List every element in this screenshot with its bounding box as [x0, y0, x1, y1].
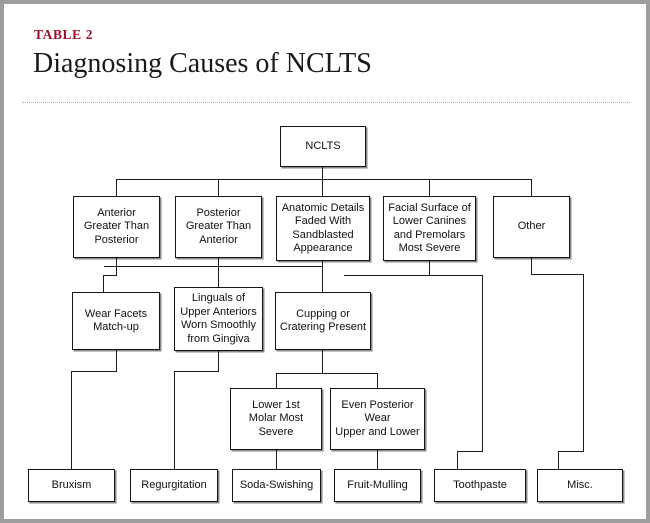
flow-node-wear-facets[interactable]: Wear Facets Match-up	[72, 292, 160, 350]
flow-node-label: Facial Surface of Lower Canines and Prem…	[388, 202, 471, 256]
connector-bus-to-posterior	[218, 179, 219, 196]
connector-facial-down	[429, 261, 430, 276]
flowchart: NCLTS Anterior Greater Than Posterior Po…	[4, 4, 646, 519]
flow-node-label: NCLTS	[305, 140, 340, 154]
flow-node-label: Soda-Swishing	[240, 479, 313, 493]
connector-posterior-across	[104, 266, 219, 267]
connector-toothpaste-stem	[457, 451, 458, 469]
flow-node-label: Misc.	[567, 479, 593, 493]
flow-node-label: Wear Facets Match-up	[85, 308, 147, 335]
flow-node-anterior-greater[interactable]: Anterior Greater Than Posterior	[73, 196, 160, 258]
connector-linguals-down	[218, 351, 219, 372]
flow-node-posterior-greater[interactable]: Posterior Greater Than Anterior	[175, 196, 262, 258]
flow-node-label: Toothpaste	[453, 479, 507, 493]
connector-bus-to-anatomic	[322, 179, 323, 196]
flow-node-nclts[interactable]: NCLTS	[280, 126, 366, 167]
connector-linguals-to-regurgitation	[174, 371, 175, 469]
flow-node-anatomic-details[interactable]: Anatomic Details Faded With Sandblasted …	[276, 196, 370, 261]
connector-anatomic-to-cupping	[322, 266, 323, 292]
flow-node-soda-swishing[interactable]: Soda-Swishing	[232, 469, 321, 502]
flow-node-label: Anatomic Details Faded With Sandblasted …	[282, 202, 365, 256]
flow-node-label: Even Posterior Wear Upper and Lower	[335, 399, 419, 440]
connector-bus-to-other	[531, 179, 532, 196]
connector-bus-to-facial	[429, 179, 430, 196]
connector-facial-across	[344, 275, 483, 276]
connector-misc-jog	[558, 451, 584, 452]
connector-cupping-down	[322, 350, 323, 374]
flow-node-regurgitation[interactable]: Regurgitation	[130, 469, 218, 502]
flow-node-lower-first-molar[interactable]: Lower 1st Molar Most Severe	[230, 388, 322, 450]
connector-misc-stem	[558, 451, 559, 469]
flow-node-fruit-mulling[interactable]: Fruit-Mulling	[334, 469, 421, 502]
connector-bus-to-anterior	[116, 179, 117, 196]
connector-level2-bus	[116, 179, 532, 180]
flow-node-toothpaste[interactable]: Toothpaste	[434, 469, 526, 502]
connector-other-down	[531, 258, 532, 275]
connector-level4-bus	[276, 373, 378, 374]
flow-node-label: Lower 1st Molar Most Severe	[249, 399, 303, 440]
connector-linguals-across	[174, 371, 219, 372]
connector-other-to-misc	[583, 274, 584, 452]
connector-toothpaste-jog	[457, 451, 483, 452]
connector-wearfacets-across	[71, 371, 117, 372]
flow-node-linguals[interactable]: Linguals of Upper Anteriors Worn Smoothl…	[174, 287, 263, 351]
connector-anterior-to-wearfacets	[103, 275, 104, 292]
connector-lower1st-to-soda	[276, 450, 277, 469]
flow-node-label: Other	[518, 220, 546, 234]
flow-node-even-posterior-wear[interactable]: Even Posterior Wear Upper and Lower	[330, 388, 425, 450]
flow-node-misc[interactable]: Misc.	[537, 469, 623, 502]
flow-node-label: Fruit-Mulling	[347, 479, 408, 493]
connector-other-across	[531, 274, 584, 275]
flow-node-label: Posterior Greater Than Anterior	[186, 207, 251, 248]
table-figure: TABLE 2 Diagnosing Causes of NCLTS NCLTS…	[0, 0, 650, 523]
connector-wearfacets-down	[116, 350, 117, 372]
connector-bus-to-lower1st	[276, 373, 277, 388]
flow-node-label: Cupping or Cratering Present	[280, 308, 366, 335]
connector-anterior-across	[103, 275, 117, 276]
connector-facial-to-toothpaste	[482, 275, 483, 452]
flow-node-label: Regurgitation	[141, 479, 206, 493]
flow-node-other[interactable]: Other	[493, 196, 570, 258]
connector-anatomic-across	[218, 266, 323, 267]
flow-node-cupping-cratering[interactable]: Cupping or Cratering Present	[275, 292, 371, 350]
connector-wearfacets-to-bruxism	[71, 371, 72, 469]
connector-evenposterior-to-fruit	[377, 450, 378, 469]
flow-node-label: Anterior Greater Than Posterior	[84, 207, 149, 248]
flow-node-label: Linguals of Upper Anteriors Worn Smoothl…	[180, 292, 256, 346]
flow-node-facial-surface[interactable]: Facial Surface of Lower Canines and Prem…	[383, 196, 476, 261]
flow-node-bruxism[interactable]: Bruxism	[28, 469, 115, 502]
connector-bus-to-evenposterior	[377, 373, 378, 388]
flow-node-label: Bruxism	[52, 479, 92, 493]
